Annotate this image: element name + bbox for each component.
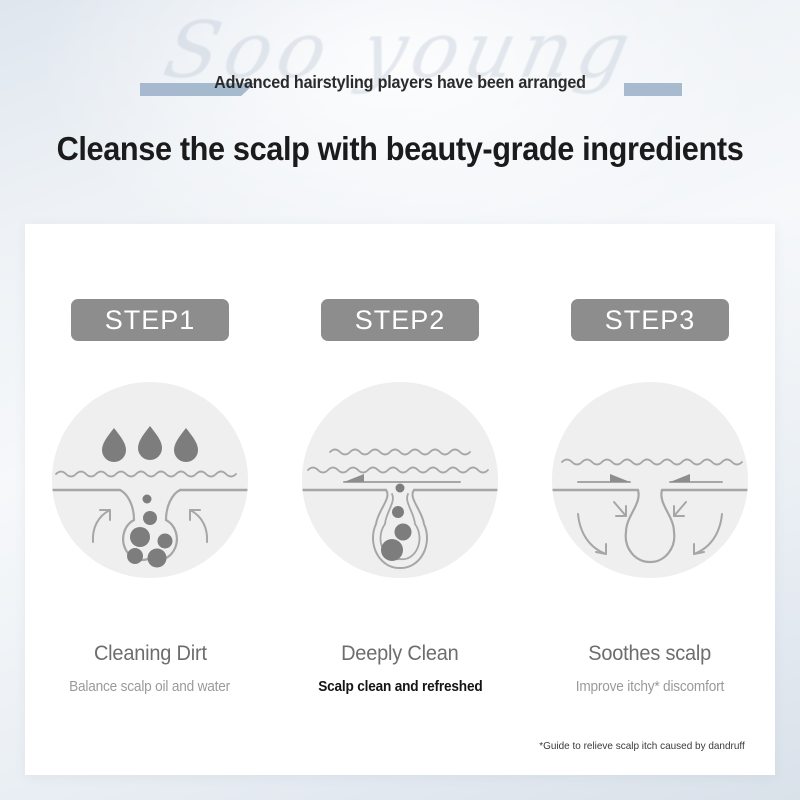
step-subcaption-3: Improve itchy* discomfort [576,679,724,695]
step-badge-2: STEP2 [321,299,479,341]
step-illustration-1 [52,382,248,578]
dirt-particle-icons [127,495,173,568]
footnote: *Guide to relieve scalp itch caused by d… [533,739,752,753]
step-item-2: STEP2 [275,224,525,695]
steps-card: STEP1 [25,224,775,775]
step-subcaption-1: Balance scalp oil and water [70,679,231,695]
step-caption-3: Soothes scalp [589,642,712,666]
flow-arrow-icon [344,474,364,482]
page-subtitle: Advanced hairstyling players have been a… [214,72,586,93]
step-illustration-3 [552,382,748,578]
step-illustration-2 [302,382,498,578]
page-header: Soo young Advanced hairstyling players h… [0,0,800,224]
step-item-3: STEP3 [525,224,775,695]
droplet-icons [102,426,198,462]
step-badge-1: STEP1 [71,299,229,341]
step-caption-2: Deeply Clean [341,642,458,666]
step-caption-1: Cleaning Dirt [94,642,207,666]
steps-container: STEP1 [25,224,775,695]
page-title: Cleanse the scalp with beauty-grade ingr… [28,130,772,168]
accent-bar-right-icon [624,83,682,96]
step-subcaption-2: Scalp clean and refreshed [318,679,482,695]
converging-arrow-icons [610,474,690,482]
subtitle-row: Advanced hairstyling players have been a… [0,62,800,102]
step-badge-3: STEP3 [571,299,729,341]
step-item-1: STEP1 [25,224,275,695]
